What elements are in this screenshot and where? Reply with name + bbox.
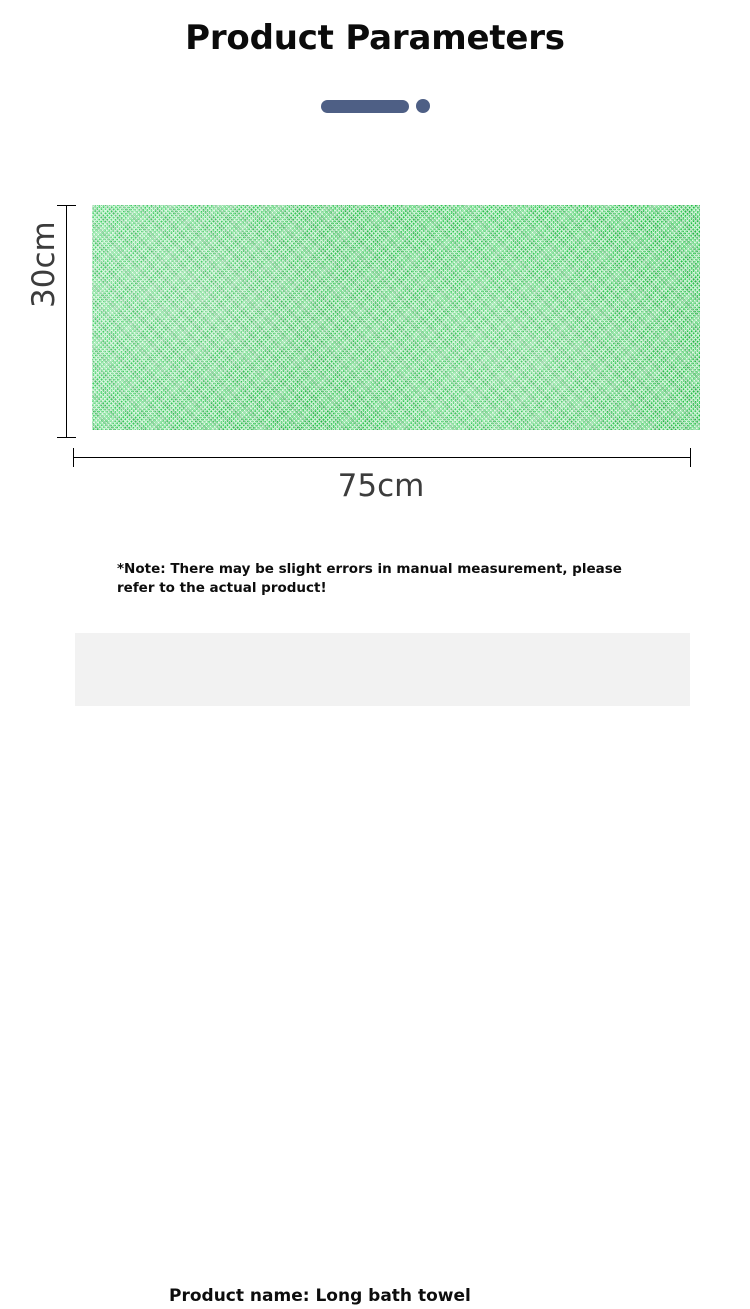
height-dimension-cap-bottom <box>57 437 76 438</box>
title-divider <box>0 98 750 114</box>
spec-row-product-name: Product name: Long bath towel <box>169 1283 471 1309</box>
height-dimension-label: 30cm <box>26 248 62 308</box>
spec-table: Product name: Long bath towel <box>75 633 690 706</box>
page-title: Product Parameters <box>0 16 750 60</box>
divider-dot-shape <box>416 99 430 113</box>
height-dimension-line <box>66 206 67 437</box>
width-dimension-cap-right <box>690 448 691 467</box>
measurement-note: *Note: There may be slight errors in man… <box>117 560 642 598</box>
product-image-bath-towel <box>92 205 700 430</box>
width-dimension-line <box>73 457 691 458</box>
width-dimension-label: 75cm <box>0 468 750 504</box>
divider-bar-shape <box>321 100 409 113</box>
